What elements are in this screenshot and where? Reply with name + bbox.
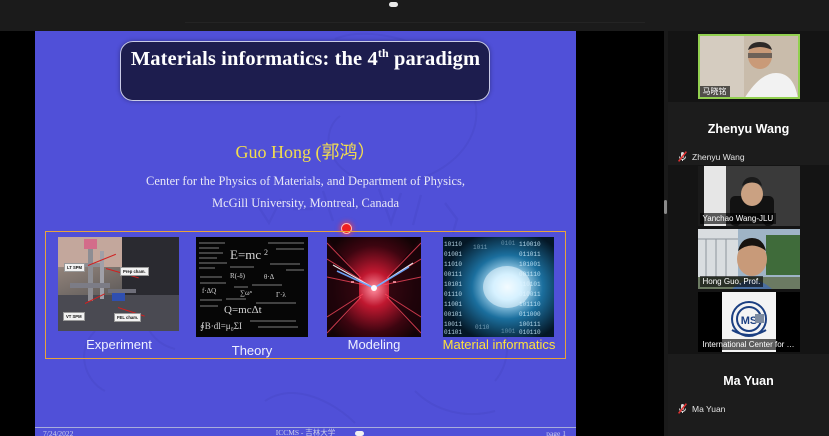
title-superscript: th	[378, 46, 389, 60]
participant-row-footer-5: Ma Yuan	[678, 403, 725, 414]
presentation-slide[interactable]: Materials informatics: the 4th paradigm …	[35, 31, 576, 436]
mic-muted-icon	[678, 403, 687, 414]
server-corridor	[327, 237, 421, 337]
svg-text:E=mc: E=mc	[230, 247, 261, 262]
participant-tile-0[interactable]: 马晓铭	[668, 34, 829, 102]
binary-tunnel-image: 1011001001 1101000111 1010101110 1100100…	[443, 237, 554, 337]
participant-name-tag-3: Hong Guo, Prof.	[700, 276, 764, 287]
participant-name-label-1: Zhenyu Wang	[692, 152, 745, 162]
svg-text:11001: 11001	[444, 301, 462, 308]
svg-text:100111: 100111	[519, 321, 541, 328]
svg-text:110010: 110010	[519, 241, 541, 248]
experiment-photo: LT SPM Prep cham. VT SPM FEL cham.	[58, 237, 179, 331]
participant-tile-1[interactable]: Zhenyu Wang Zhenyu Wang	[668, 102, 829, 165]
zoom-meeting-window: Materials informatics: the 4th paradigm …	[0, 0, 829, 436]
participant-video-2[interactable]: Yanchao Wang-JLU	[698, 166, 800, 226]
mic-muted-icon	[678, 151, 687, 162]
svg-text:00111: 00111	[444, 271, 462, 278]
equation-scribbles: E=mc 2 Q=mcΔt ∮B·dl=μ₀ΣI R(-δ) θ·Δ f·ΔQ …	[196, 237, 308, 337]
svg-text:011000: 011000	[519, 311, 541, 318]
svg-text:1001: 1001	[501, 328, 516, 335]
participant-tile-3[interactable]: Hong Guo, Prof.	[668, 229, 829, 291]
participant-video-3[interactable]: Hong Guo, Prof.	[698, 229, 800, 289]
svg-text:Γ·λ: Γ·λ	[276, 291, 286, 299]
svg-text:010110: 010110	[519, 329, 541, 336]
participant-tile-5[interactable]: Ma Yuan Ma Yuan	[668, 354, 829, 417]
svg-text:01110: 01110	[444, 291, 462, 298]
label-fel-cham: FEL cham.	[114, 313, 141, 322]
participant-tile-6[interactable]: Hanyu-LIU(刘寒... Hanyu-LIU(刘寒雨)-JL...	[668, 417, 829, 436]
slide-author: Guo Hong (郭鸿）	[35, 138, 576, 164]
presentation-bottom-handle[interactable]	[355, 431, 364, 436]
svg-text:1011: 1011	[473, 244, 488, 251]
participant-tile-2[interactable]: Yanchao Wang-JLU	[668, 166, 829, 228]
participant-row-footer-1: Zhenyu Wang	[678, 151, 745, 162]
svg-text:0101: 0101	[501, 240, 516, 247]
blackboard-equations-image: E=mc 2 Q=mcΔt ∮B·dl=μ₀ΣI R(-δ) θ·Δ f·ΔQ …	[196, 237, 308, 337]
participant-display-name-5: Ma Yuan	[668, 354, 829, 388]
svg-text:01001: 01001	[444, 251, 462, 258]
svg-text:10011: 10011	[444, 321, 462, 328]
participant-name-tag-2: Yanchao Wang-JLU	[700, 213, 777, 224]
paradigm-panel-row: LT SPM Prep cham. VT SPM FEL cham. Exper…	[46, 232, 565, 358]
four-paradigms-frame: LT SPM Prep cham. VT SPM FEL cham. Exper…	[45, 231, 566, 359]
paradigm-caption-theory: Theory	[190, 343, 314, 358]
panel-resize-handle[interactable]	[664, 200, 667, 214]
svg-text:01101: 01101	[444, 329, 462, 336]
svg-text:0110: 0110	[475, 324, 490, 331]
participant-video-4[interactable]: MS International Center for C...	[698, 292, 800, 352]
binary-stream: 1011001001 1101000111 1010101110 1100100…	[443, 237, 554, 337]
meeting-top-bar	[0, 0, 829, 31]
toolbar-divider	[185, 22, 645, 23]
svg-text:∑ωⁿ: ∑ωⁿ	[240, 289, 253, 297]
svg-text:f·ΔQ: f·ΔQ	[202, 287, 216, 295]
svg-text:11010: 11010	[444, 261, 462, 268]
participant-name-tag-4: International Center for C...	[700, 339, 800, 350]
svg-text:R(-δ): R(-δ)	[230, 272, 246, 280]
slide-footer-page: page 1	[546, 429, 566, 436]
svg-text:10101: 10101	[444, 281, 462, 288]
shared-screen-stage[interactable]: Materials informatics: the 4th paradigm …	[0, 31, 664, 436]
data-center-image	[327, 237, 421, 337]
participant-display-name-6: Hanyu-LIU(刘寒...	[668, 417, 829, 436]
window-drag-handle[interactable]	[389, 2, 398, 7]
paradigm-caption-modeling: Modeling	[310, 337, 438, 352]
paradigm-caption-experiment: Experiment	[50, 337, 188, 352]
participant-name-tag-0: 马晓铭	[700, 86, 730, 97]
paradigm-caption-informatics: Material informatics	[426, 337, 572, 352]
participant-name-label-5: Ma Yuan	[692, 404, 725, 414]
svg-text:101001: 101001	[519, 261, 541, 268]
svg-text:Q=mcΔt: Q=mcΔt	[224, 304, 262, 316]
label-vt-spm: VT SPM	[63, 312, 85, 321]
svg-text:00101: 00101	[444, 311, 462, 318]
svg-text:θ·Δ: θ·Δ	[264, 273, 275, 281]
slide-affiliation-line-2: McGill University, Montreal, Canada	[35, 196, 576, 211]
svg-text:MS: MS	[740, 315, 757, 327]
slide-affiliation-line-1: Center for the Physics of Materials, and…	[35, 174, 576, 189]
label-prep-cham: Prep cham.	[120, 267, 149, 276]
slide-footer-center: ICCMS - 吉林大学	[35, 427, 576, 436]
svg-text:2: 2	[264, 248, 268, 257]
svg-text:10110: 10110	[444, 241, 462, 248]
participant-display-name-1: Zhenyu Wang	[668, 102, 829, 136]
label-lt-spm: LT SPM	[64, 263, 85, 272]
svg-text:∮B·dl=μ₀ΣI: ∮B·dl=μ₀ΣI	[200, 321, 242, 331]
svg-text:011011: 011011	[519, 251, 541, 258]
participant-tile-4[interactable]: MS International Center for C...	[668, 292, 829, 354]
participant-video-0[interactable]: 马晓铭	[698, 34, 800, 99]
participants-sidebar[interactable]: 马晓铭 Zhenyu Wang Zhenyu Wang	[668, 31, 829, 436]
slide-title: Materials informatics: the 4th paradigm	[35, 46, 576, 71]
